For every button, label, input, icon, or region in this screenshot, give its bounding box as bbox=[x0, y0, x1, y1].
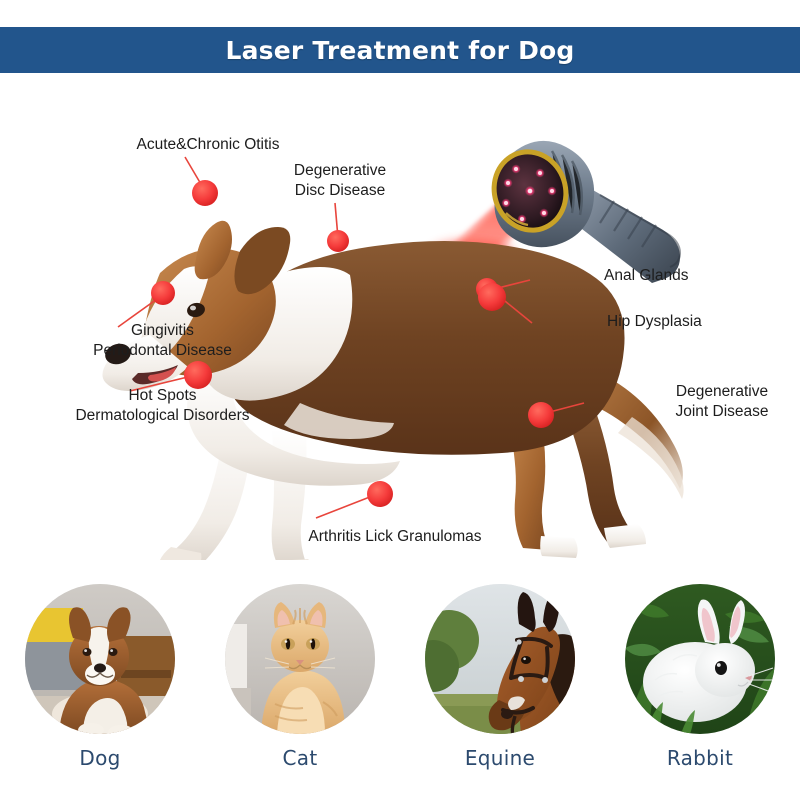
equine-photo bbox=[425, 584, 575, 734]
species-item-rabbit[interactable]: Rabbit bbox=[600, 584, 800, 770]
species-label-equine: Equine bbox=[400, 746, 600, 770]
callout-disc: Degenerative Disc Disease bbox=[255, 161, 425, 201]
callout-arthritis-line1: Arthritis Lick Granulomas bbox=[275, 527, 515, 547]
callout-otitis: Acute&Chronic Otitis bbox=[88, 135, 328, 155]
species-item-equine[interactable]: Equine bbox=[400, 584, 600, 770]
callout-hip-dysplasia: Hip Dysplasia bbox=[607, 312, 797, 332]
callout-otitis-line1: Acute&Chronic Otitis bbox=[88, 135, 328, 155]
header-banner: Laser Treatment for Dog bbox=[0, 27, 800, 73]
dog-photo bbox=[25, 584, 175, 734]
marker-arthritis bbox=[367, 481, 393, 507]
cat-photo bbox=[225, 584, 375, 734]
callout-anal-glands: Anal Glands bbox=[604, 266, 794, 286]
marker-hot-spots bbox=[184, 361, 212, 389]
marker-otitis bbox=[192, 180, 218, 206]
species-label-cat: Cat bbox=[200, 746, 400, 770]
page-title: Laser Treatment for Dog bbox=[225, 36, 574, 65]
rabbit-photo bbox=[625, 584, 775, 734]
page-root: Laser Treatment for Dog bbox=[0, 0, 800, 800]
callout-gingivitis: Gingivitis Periodontal Disease bbox=[30, 321, 295, 361]
callout-hot-spots-line1: Hot Spots bbox=[30, 386, 295, 406]
marker-disc bbox=[327, 230, 349, 252]
species-label-dog: Dog bbox=[0, 746, 200, 770]
marker-hip-dysplasia bbox=[478, 283, 506, 311]
callout-gingivitis-line1: Gingivitis bbox=[30, 321, 295, 341]
callout-joint-line1: Degenerative bbox=[648, 382, 796, 402]
callout-arthritis: Arthritis Lick Granulomas bbox=[275, 527, 515, 547]
callout-hot-spots: Hot Spots Dermatological Disorders bbox=[30, 386, 295, 426]
diagram-stage: Acute&Chronic Otitis Degenerative Disc D… bbox=[0, 73, 800, 560]
species-item-dog[interactable]: Dog bbox=[0, 584, 200, 770]
species-strip: Dog bbox=[0, 562, 800, 800]
callout-anal-glands-line1: Anal Glands bbox=[604, 266, 794, 286]
callout-disc-line1: Degenerative bbox=[255, 161, 425, 181]
species-item-cat[interactable]: Cat bbox=[200, 584, 400, 770]
species-label-rabbit: Rabbit bbox=[600, 746, 800, 770]
callout-disc-line2: Disc Disease bbox=[255, 181, 425, 201]
callout-joint: Degenerative Joint Disease bbox=[648, 382, 796, 422]
callout-gingivitis-line2: Periodontal Disease bbox=[30, 341, 295, 361]
callout-joint-line2: Joint Disease bbox=[648, 402, 796, 422]
callout-hot-spots-line2: Dermatological Disorders bbox=[30, 406, 295, 426]
marker-gingivitis bbox=[151, 281, 175, 305]
marker-joint bbox=[528, 402, 554, 428]
callout-hip-dysplasia-line1: Hip Dysplasia bbox=[607, 312, 797, 332]
